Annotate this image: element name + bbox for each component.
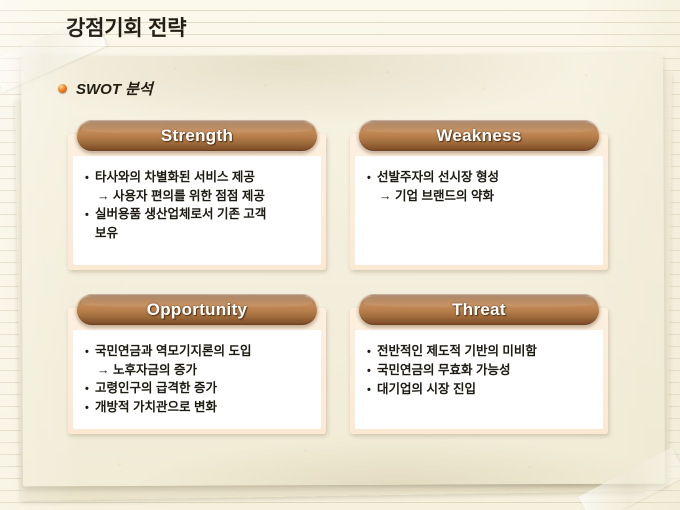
quadrant-weakness: Weakness 선발주자의 선시장 형성 기업 브랜드의 약화 — [350, 120, 608, 270]
quadrant-strength-list: 타사와의 차별화된 서비스 제공 사용자 편의를 위한 점점 제공 실버용품 생… — [85, 168, 313, 242]
quadrant-threat-inner: 전반적인 제도적 기반의 미비함 국민연금의 무효화 가능성 대기업의 시장 진… — [355, 330, 603, 429]
list-item: 보유 — [85, 224, 313, 242]
quadrant-opportunity: Opportunity 국민연금과 역모기지론의 도입 노후자금의 증가 고령인… — [68, 294, 326, 434]
quadrant-strength-body: 타사와의 차별화된 서비스 제공 사용자 편의를 위한 점점 제공 실버용품 생… — [68, 134, 326, 270]
quadrant-weakness-list: 선발주자의 선시장 형성 기업 브랜드의 약화 — [367, 168, 595, 205]
quadrant-opportunity-header: Opportunity — [76, 294, 318, 326]
list-item: 대기업의 시장 진입 — [367, 380, 595, 399]
quadrant-threat-header: Threat — [358, 294, 600, 326]
quadrant-opportunity-header-label: Opportunity — [147, 300, 248, 320]
subtitle-row: SWOT 분석 — [58, 78, 153, 99]
orange-sphere-bullet-icon — [58, 84, 67, 93]
quadrant-weakness-header: Weakness — [358, 120, 600, 152]
quadrant-weakness-body: 선발주자의 선시장 형성 기업 브랜드의 약화 — [350, 134, 608, 270]
quadrant-strength: Strength 타사와의 차별화된 서비스 제공 사용자 편의를 위한 점점 … — [68, 120, 326, 270]
quadrant-opportunity-body: 국민연금과 역모기지론의 도입 노후자금의 증가 고령인구의 급격한 증가 개방… — [68, 308, 326, 434]
quadrant-strength-inner: 타사와의 차별화된 서비스 제공 사용자 편의를 위한 점점 제공 실버용품 생… — [73, 156, 321, 265]
list-item: 사용자 편의를 위한 점점 제공 — [85, 187, 313, 205]
list-item: 기업 브랜드의 약화 — [367, 187, 595, 205]
page-title: 강점기회 전략 — [66, 12, 186, 42]
list-item: 국민연금의 무효화 가능성 — [367, 361, 595, 380]
list-item: 고령인구의 급격한 증가 — [85, 379, 313, 398]
quadrant-weakness-header-label: Weakness — [436, 126, 521, 146]
quadrant-weakness-inner: 선발주자의 선시장 형성 기업 브랜드의 약화 — [355, 156, 603, 265]
list-item: 전반적인 제도적 기반의 미비함 — [367, 342, 595, 361]
list-item: 개방적 가치관으로 변화 — [85, 398, 313, 417]
quadrant-strength-header-label: Strength — [161, 126, 233, 146]
quadrant-threat-list: 전반적인 제도적 기반의 미비함 국민연금의 무효화 가능성 대기업의 시장 진… — [367, 342, 595, 399]
list-item: 국민연금과 역모기지론의 도입 — [85, 342, 313, 361]
quadrant-opportunity-inner: 국민연금과 역모기지론의 도입 노후자금의 증가 고령인구의 급격한 증가 개방… — [73, 330, 321, 429]
quadrant-threat-header-label: Threat — [452, 300, 506, 320]
list-item: 노후자금의 증가 — [85, 361, 313, 379]
quadrant-threat: Threat 전반적인 제도적 기반의 미비함 국민연금의 무효화 가능성 대기… — [350, 294, 608, 434]
list-item: 선발주자의 선시장 형성 — [367, 168, 595, 187]
slide-canvas: 강점기회 전략 SWOT 분석 Strength 타사와의 차별화된 서비스 제… — [0, 0, 680, 510]
list-item: 타사와의 차별화된 서비스 제공 — [85, 168, 313, 187]
list-item: 실버용품 생산업체로서 기존 고객 — [85, 205, 313, 224]
quadrant-opportunity-list: 국민연금과 역모기지론의 도입 노후자금의 증가 고령인구의 급격한 증가 개방… — [85, 342, 313, 417]
quadrant-strength-header: Strength — [76, 120, 318, 152]
quadrant-threat-body: 전반적인 제도적 기반의 미비함 국민연금의 무효화 가능성 대기업의 시장 진… — [350, 308, 608, 434]
subtitle-label: SWOT 분석 — [76, 78, 153, 99]
